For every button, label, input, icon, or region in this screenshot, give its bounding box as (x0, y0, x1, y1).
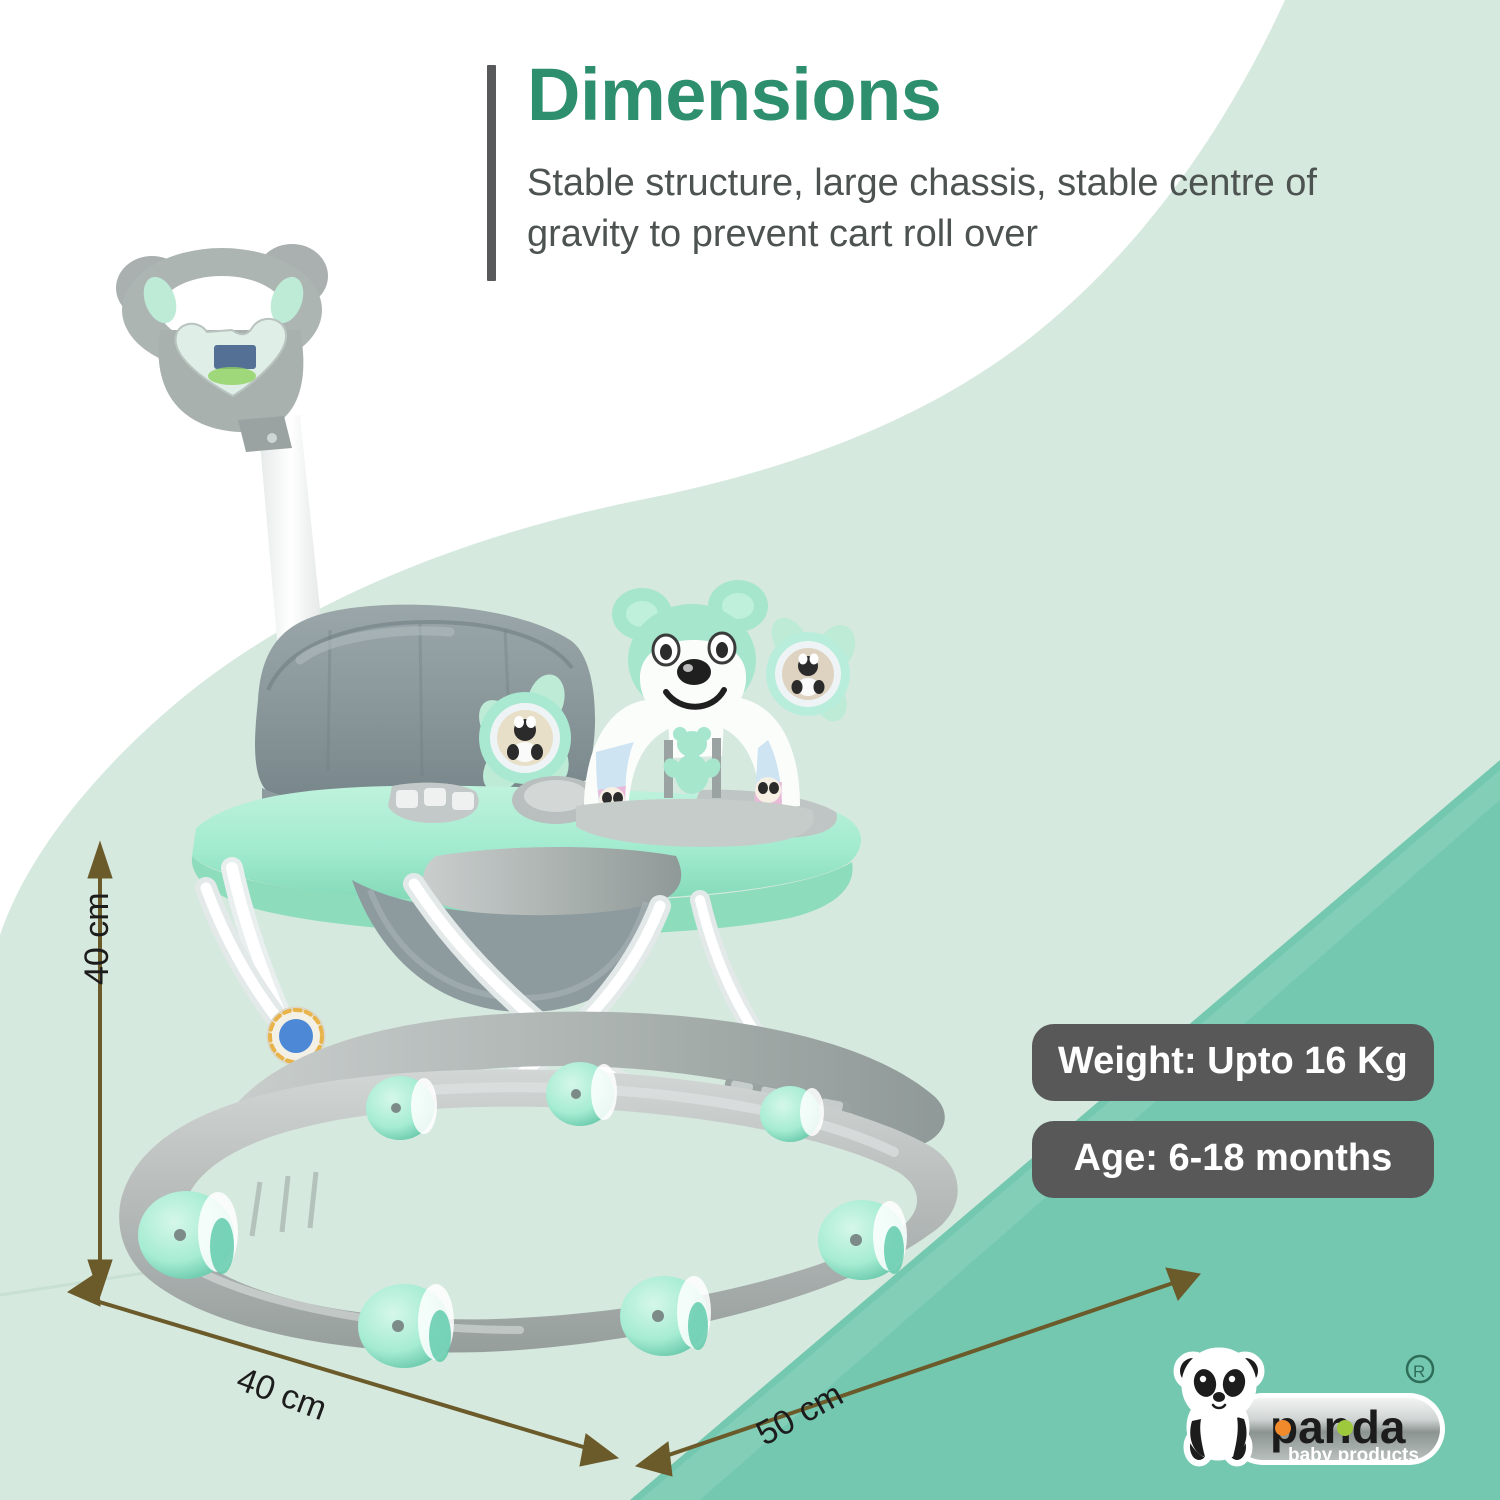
page-subtitle: Stable structure, large chassis, stable … (527, 158, 1427, 259)
panda-mascot (1177, 1351, 1261, 1463)
status-badge-age: Age: 6-18 months (1032, 1121, 1434, 1198)
header-block: Dimensions Stable structure, large chass… (487, 58, 1447, 259)
header-accent-rule (487, 65, 496, 281)
brand-logo: panda baby products R (1165, 1335, 1455, 1485)
dimension-label-height: 40 cm (78, 892, 117, 985)
registered-mark: R (1413, 1362, 1425, 1381)
page-title: Dimensions (527, 58, 1447, 132)
status-badge-weight: Weight: Upto 16 Kg (1032, 1024, 1434, 1101)
logo-tagline: baby products (1288, 1445, 1419, 1466)
infographic-canvas: Dimensions Stable structure, large chass… (0, 0, 1500, 1500)
spec-badges: Weight: Upto 16 Kg Age: 6-18 months (1032, 1024, 1434, 1198)
